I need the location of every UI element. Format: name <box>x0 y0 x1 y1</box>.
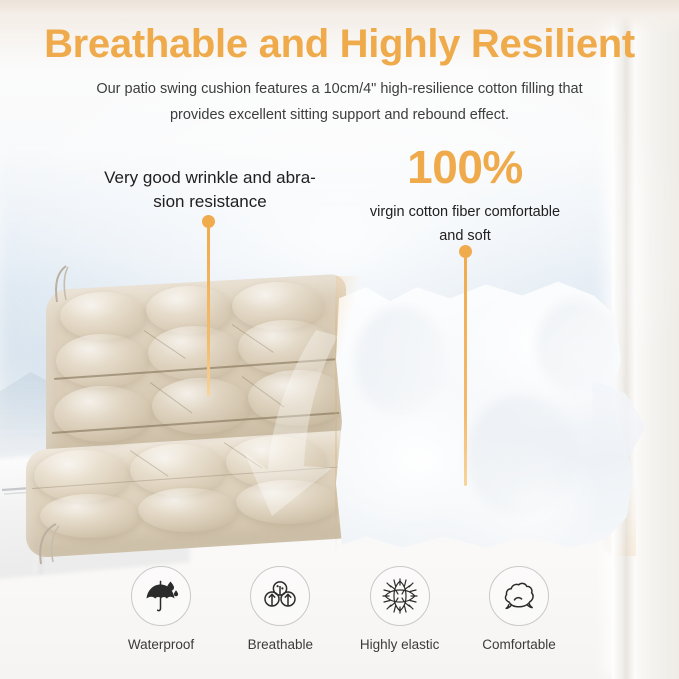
feature-label: Breathable <box>248 637 313 652</box>
leader-line-right <box>464 254 467 486</box>
product-infographic: Breathable and Highly Resilient Our pati… <box>0 0 679 679</box>
feature-circle <box>370 566 430 626</box>
feature-circle <box>250 566 310 626</box>
cushion-tie <box>48 264 74 306</box>
cushion-tie <box>32 520 66 566</box>
feature-circle <box>489 566 549 626</box>
callout-right-line-1: virgin cotton fiber comfortable <box>330 200 600 224</box>
cloud-cushion-icon <box>501 578 537 614</box>
page-headline: Breathable and Highly Resilient <box>0 20 679 68</box>
cotton-fold <box>536 300 616 390</box>
cotton-filling-image <box>336 276 636 556</box>
cotton-fold <box>466 396 576 516</box>
feature-circle <box>131 566 191 626</box>
subheadline-line-1: Our patio swing cushion features a 10cm/… <box>60 76 619 102</box>
page-subheadline: Our patio swing cushion features a 10cm/… <box>60 76 619 128</box>
callout-right-text: virgin cotton fiber comfortable and soft <box>330 200 600 248</box>
feature-item-highly-elastic[interactable]: Highly elastic <box>345 566 455 652</box>
feature-item-comfortable[interactable]: Comfortable <box>464 566 574 652</box>
umbrella-raindrops-icon <box>143 578 179 614</box>
cushion-tuft <box>54 386 152 442</box>
feature-label: Waterproof <box>128 637 194 652</box>
elastic-fiber-weave-icon <box>381 577 419 615</box>
callout-right-percent: 100% <box>340 142 590 192</box>
cotton-bolls-arrows-icon <box>262 578 298 614</box>
feature-item-breathable[interactable]: Breathable <box>225 566 335 652</box>
background-curtain <box>636 0 679 679</box>
cotton-fold <box>356 306 446 416</box>
callout-left-text: Very good wrinkle and abra- sion resista… <box>62 166 358 214</box>
feature-item-waterproof[interactable]: Waterproof <box>106 566 216 652</box>
callout-left-line-2: sion resistance <box>62 190 358 214</box>
feature-label: Highly elastic <box>360 637 440 652</box>
leader-line-left <box>207 224 210 396</box>
cushion-tuft <box>56 334 148 388</box>
feature-label: Comfortable <box>482 637 556 652</box>
subheadline-line-2: provides excellent sitting support and r… <box>60 102 619 128</box>
callout-left-line-1: Very good wrinkle and abra- <box>62 166 358 190</box>
feature-icon-row: Waterproof Breathable <box>106 566 574 662</box>
arrow-watermark-icon <box>220 320 350 520</box>
